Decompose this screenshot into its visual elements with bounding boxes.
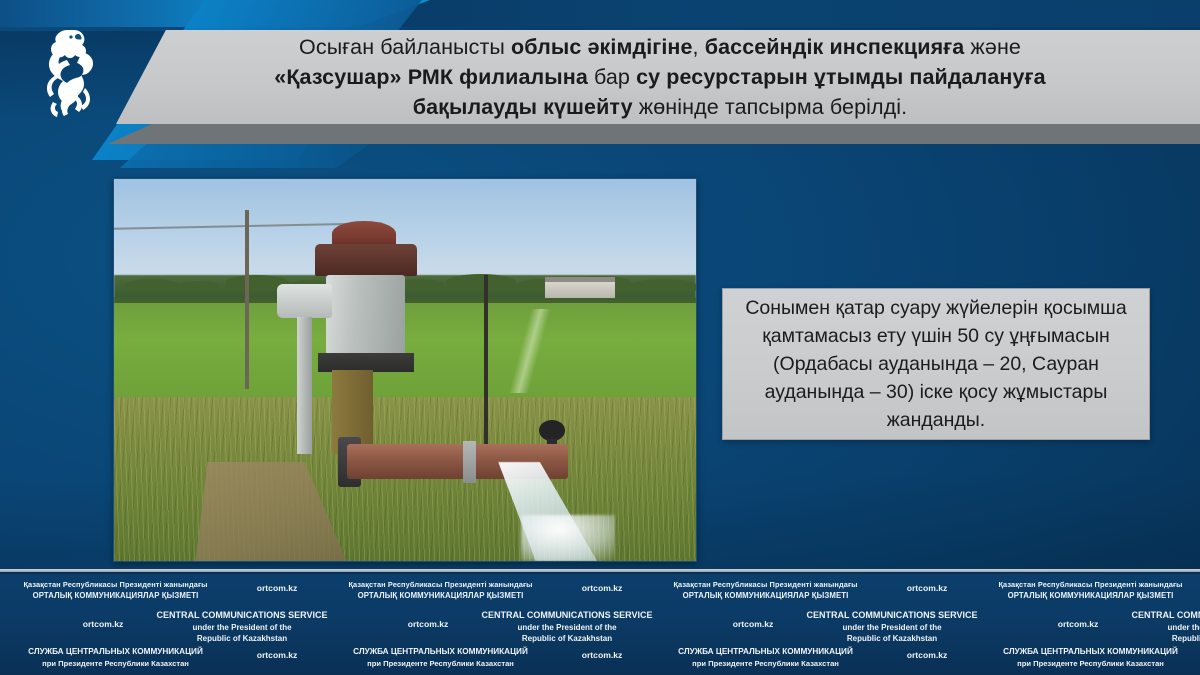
header-text-bold: бассейндік инспекцияға bbox=[705, 35, 965, 59]
footer-ru-line1: СЛУЖБА ЦЕНТРАЛЬНЫХ КОММУНИКАЦИЙ bbox=[983, 646, 1198, 658]
photo-pump-body bbox=[326, 275, 405, 355]
top-dark-ribbon bbox=[355, 0, 1200, 28]
photo-metal-rod bbox=[484, 275, 488, 447]
footer-url[interactable]: ortcom.kz bbox=[708, 619, 798, 629]
footer-band: Қазақстан Республикасы Президенті жанынд… bbox=[0, 569, 1200, 675]
header-text-bold: «Қазсушар» РМК филиалына bbox=[274, 65, 588, 89]
footer-ru-line2: при Президенте Республики Казахстан bbox=[983, 658, 1198, 670]
irrigation-well-pump-photo bbox=[113, 178, 697, 562]
footer-kk-block: Қазақстан Республикасы Президенті жанынд… bbox=[8, 579, 223, 601]
footer-url[interactable]: ortcom.kz bbox=[557, 583, 647, 593]
header-line-1: Осыған байланысты облыс әкімдігіне, басс… bbox=[299, 35, 1021, 59]
callout-text: Сонымен қатар суару жүйелерін қосымша қа… bbox=[737, 294, 1135, 434]
footer-kk-block: Қазақстан Республикасы Президенті жанынд… bbox=[983, 579, 1198, 601]
footer-ru-block: СЛУЖБА ЦЕНТРАЛЬНЫХ КОММУНИКАЦИЙ при През… bbox=[333, 646, 548, 669]
footer-url[interactable]: ortcom.kz bbox=[1033, 619, 1123, 629]
footer-url[interactable]: ortcom.kz bbox=[557, 650, 647, 660]
footer-ru-line2: при Президенте Республики Казахстан bbox=[658, 658, 873, 670]
footer-en-line3: Republic of Kazakhstan bbox=[132, 633, 352, 645]
footer-kk-block: Қазақстан Республикасы Президенті жанынд… bbox=[658, 579, 873, 601]
footer-en-line1: CENTRAL COMMUNICATIONS SERVICE bbox=[132, 610, 352, 622]
footer-en-line2: under the President of the bbox=[132, 622, 352, 634]
callout-textbox: Сонымен қатар суару жүйелерін қосымша қа… bbox=[722, 288, 1150, 440]
header-line-2: «Қазсушар» РМК филиалына бар су ресурста… bbox=[274, 65, 1045, 89]
footer-url[interactable]: ortcom.kz bbox=[232, 650, 322, 660]
header-text-bold: бақылауды күшейту bbox=[413, 95, 633, 119]
footer-en-line3: Republic of Kazakhstan bbox=[782, 633, 1002, 645]
footer-ru-line2: при Президенте Республики Казахстан bbox=[8, 658, 223, 670]
footer-en-line1: CENTRAL COMMUNICATIONS SERVICE bbox=[782, 610, 1002, 622]
photo-pipe-flange-mid bbox=[463, 441, 476, 483]
header-text-part: бар bbox=[588, 65, 636, 89]
footer-ru-block: СЛУЖБА ЦЕНТРАЛЬНЫХ КОММУНИКАЦИЙ при През… bbox=[8, 646, 223, 669]
header-text-bold: облыс әкімдігіне bbox=[511, 35, 693, 59]
header-text-bold: су ресурстарын ұтымды пайдалануға bbox=[636, 65, 1046, 89]
footer-kk-line1: Қазақстан Республикасы Президенті жанынд… bbox=[333, 579, 548, 590]
footer-kk-line2: ОРТАЛЫҚ КОММУНИКАЦИЯЛАР ҚЫЗМЕТІ bbox=[333, 590, 548, 601]
header-title-text: Осыған байланысты облыс әкімдігіне, басс… bbox=[160, 32, 1160, 122]
footer-url[interactable]: ortcom.kz bbox=[383, 619, 473, 629]
photo-valve-knob bbox=[539, 420, 565, 441]
header-text-part: , bbox=[693, 35, 705, 59]
footer-en-block: CENTRAL COMMUNICATIONS SERVICE under the… bbox=[782, 610, 1002, 645]
footer-en-line2: under the President of the bbox=[782, 622, 1002, 634]
photo-farm-building bbox=[545, 282, 615, 298]
photo-pump-shaft bbox=[297, 317, 312, 455]
footer-kk-block: Қазақстан Республикасы Президенті жанынд… bbox=[333, 579, 548, 601]
header-text-part: жөнінде тапсырма берілді. bbox=[633, 95, 908, 119]
header-banner-shadow bbox=[108, 122, 1200, 144]
footer-url[interactable]: ortcom.kz bbox=[882, 650, 972, 660]
footer-en-line2: under the President of the bbox=[457, 622, 677, 634]
footer-url[interactable]: ortcom.kz bbox=[58, 619, 148, 629]
footer-kk-line1: Қазақстан Республикасы Президенті жанынд… bbox=[8, 579, 223, 590]
footer-ru-line2: при Президенте Республики Казахстан bbox=[333, 658, 548, 670]
footer-url[interactable]: ortcom.kz bbox=[232, 583, 322, 593]
footer-kk-line2: ОРТАЛЫҚ КОММУНИКАЦИЯЛАР ҚЫЗМЕТІ bbox=[983, 590, 1198, 601]
footer-logo-cell: Қазақстан Республикасы Президенті жанынд… bbox=[0, 574, 325, 675]
photo-pump-cap bbox=[315, 244, 417, 276]
photo-utility-pole bbox=[245, 210, 249, 390]
photo-field-track bbox=[382, 309, 685, 393]
footer-logo-track: Қазақстан Республикасы Президенті жанынд… bbox=[0, 574, 1200, 675]
footer-en-line3: Republic of Kazakhstan bbox=[1107, 633, 1200, 645]
footer-logo-cell: Қазақстан Республикасы Президенті жанынд… bbox=[325, 574, 650, 675]
snow-leopard-emblem bbox=[30, 22, 108, 118]
footer-ru-line1: СЛУЖБА ЦЕНТРАЛЬНЫХ КОММУНИКАЦИЙ bbox=[658, 646, 873, 658]
header-text-part: Осыған байланысты bbox=[299, 35, 511, 59]
footer-kk-line2: ОРТАЛЫҚ КОММУНИКАЦИЯЛАР ҚЫЗМЕТІ bbox=[8, 590, 223, 601]
footer-url[interactable]: ortcom.kz bbox=[882, 583, 972, 593]
footer-kk-line2: ОРТАЛЫҚ КОММУНИКАЦИЯЛАР ҚЫЗМЕТІ bbox=[658, 590, 873, 601]
footer-en-block: CENTRAL COMMUNICATIONS SERVICE under the… bbox=[132, 610, 352, 645]
header-line-3: бақылауды күшейту жөнінде тапсырма беріл… bbox=[413, 95, 908, 119]
footer-logo-cell: Қазақстан Республикасы Президенті жанынд… bbox=[975, 574, 1200, 675]
footer-ru-line1: СЛУЖБА ЦЕНТРАЛЬНЫХ КОММУНИКАЦИЙ bbox=[8, 646, 223, 658]
footer-kk-line1: Қазақстан Республикасы Президенті жанынд… bbox=[658, 579, 873, 590]
footer-en-line1: CENTRAL COMMUNICATIONS SERVICE bbox=[457, 610, 677, 622]
footer-logo-cell: Қазақстан Республикасы Президенті жанынд… bbox=[650, 574, 975, 675]
footer-en-block: CENTRAL COMMUNICATIONS SERVICE under the… bbox=[457, 610, 677, 645]
presentation-slide: Осыған байланысты облыс әкімдігіне, басс… bbox=[0, 0, 1200, 675]
footer-ru-block: СЛУЖБА ЦЕНТРАЛЬНЫХ КОММУНИКАЦИЙ при През… bbox=[658, 646, 873, 669]
footer-kk-line1: Қазақстан Республикасы Президенті жанынд… bbox=[983, 579, 1198, 590]
photo-pump-motor-housing bbox=[277, 284, 332, 318]
footer-ru-block: СЛУЖБА ЦЕНТРАЛЬНЫХ КОММУНИКАЦИЙ при През… bbox=[983, 646, 1198, 669]
header-text-part: және bbox=[964, 35, 1021, 59]
footer-en-line3: Republic of Kazakhstan bbox=[457, 633, 677, 645]
photo-water-splash bbox=[521, 515, 614, 561]
footer-ru-line1: СЛУЖБА ЦЕНТРАЛЬНЫХ КОММУНИКАЦИЙ bbox=[333, 646, 548, 658]
